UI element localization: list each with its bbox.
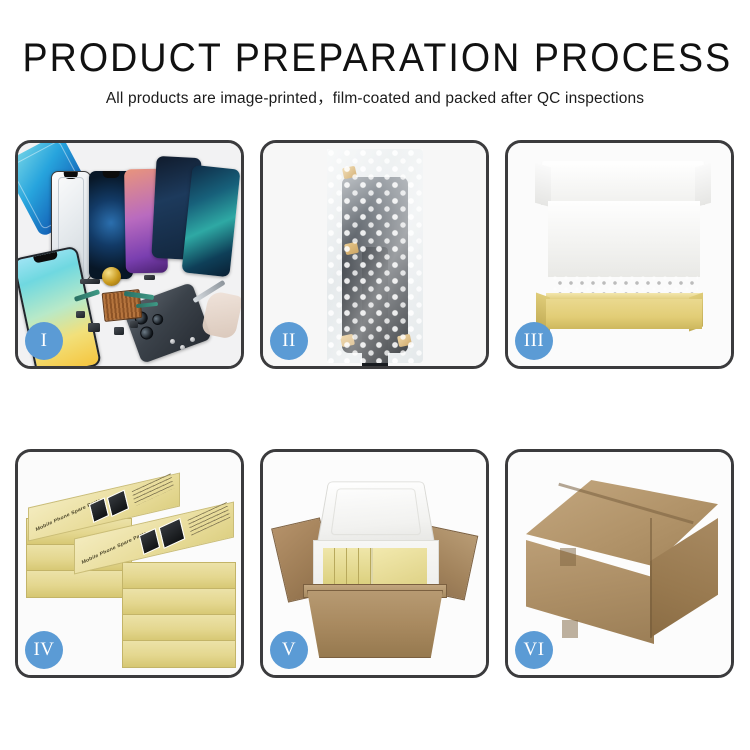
foam-lid <box>317 482 436 546</box>
process-step-panel-5: V <box>260 449 489 678</box>
foam-sheet <box>548 201 700 277</box>
box-spec-lines <box>188 502 231 536</box>
page-header: PRODUCT PREPARATION PROCESS All products… <box>0 36 750 109</box>
box-product-image <box>159 518 186 549</box>
chip-part <box>130 321 138 328</box>
carton-tape-tab <box>560 548 576 566</box>
chip-part <box>114 327 124 335</box>
carton-tape-tab <box>562 620 578 638</box>
process-step-panel-1: I <box>15 140 244 369</box>
process-step-panel-6: VI <box>505 449 734 678</box>
copper-coil-part <box>102 267 121 286</box>
step-badge-3: III <box>515 322 553 360</box>
process-step-panel-4: Mobile Phone Spare Parts Mobile Phone Sp… <box>15 449 244 678</box>
carton-body <box>307 590 443 658</box>
plastic-sheen <box>327 149 423 363</box>
retail-box <box>26 570 132 598</box>
foam-lid <box>541 161 705 205</box>
step-badge-1: I <box>25 322 63 360</box>
page-subtitle: All products are image-printed，film-coat… <box>0 89 750 109</box>
retail-box <box>122 614 236 642</box>
bubble-wrap-bag <box>327 149 423 363</box>
screw-part <box>180 345 185 350</box>
step-badge-5: V <box>270 631 308 669</box>
box-product-image <box>107 490 129 517</box>
chip-part <box>144 275 155 280</box>
box-stack: Mobile Phone Spare Parts Mobile Phone Sp… <box>26 478 238 658</box>
box-front <box>546 299 702 329</box>
product-preparation-page: PRODUCT PREPARATION PROCESS All products… <box>0 0 750 750</box>
process-steps-grid: I II <box>15 140 735 678</box>
retail-box <box>122 588 236 616</box>
retail-box <box>122 562 236 590</box>
process-step-panel-3: III <box>505 140 734 369</box>
chip-part <box>88 323 100 332</box>
process-step-panel-2: II <box>260 140 489 369</box>
step-badge-4: IV <box>25 631 63 669</box>
box-spec-lines <box>132 473 175 506</box>
retail-box <box>122 640 236 668</box>
step-badge-6: VI <box>515 631 553 669</box>
chip-part <box>80 279 100 284</box>
step-badge-2: II <box>270 322 308 360</box>
screw-part <box>190 337 195 342</box>
page-title: PRODUCT PREPARATION PROCESS <box>23 36 728 80</box>
chip-part <box>76 311 85 318</box>
screw-part <box>170 339 175 344</box>
carton-edge <box>650 518 652 638</box>
box-label: Mobile Phone Spare Parts <box>81 530 147 565</box>
